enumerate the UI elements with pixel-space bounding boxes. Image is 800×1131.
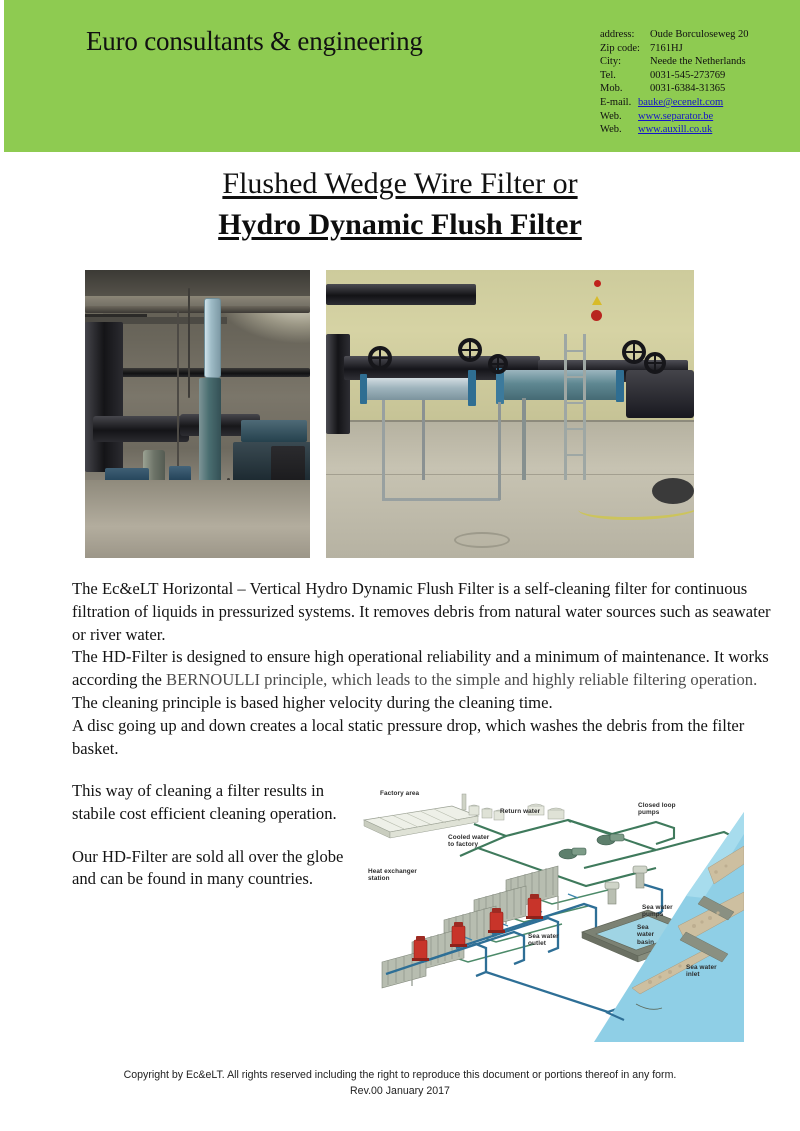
flange-2 — [468, 370, 476, 406]
indicator-lamp-icon — [594, 280, 601, 287]
ladder-rung — [564, 350, 586, 352]
contact-row-tel: Tel.0031-545-273769 — [600, 69, 749, 83]
diagram-label-heat-exchanger: Heat exchanger station — [368, 868, 417, 883]
heat-exchanger-banks — [382, 866, 558, 988]
concrete-floor — [85, 480, 310, 558]
tel-value: 0031-545-273769 — [650, 70, 725, 81]
ladder-rung — [564, 376, 586, 378]
page-title-line-2: Hydro Dynamic Flush Filter — [0, 204, 800, 246]
support-rod-secondary — [188, 288, 190, 398]
ceiling — [85, 270, 310, 296]
hand-wheel-valve-2 — [458, 338, 482, 362]
lower-text-column: This way of cleaning a filter results in… — [72, 780, 352, 891]
black-pipe-right-bend — [626, 370, 694, 418]
body-paragraph-4: A disc going up and down creates a local… — [72, 715, 772, 761]
hand-wheel-valve-1 — [368, 346, 392, 370]
address-label: address: — [600, 28, 650, 42]
closed-loop-piping — [460, 820, 734, 886]
diagram-label-sea-water-inlet: Sea water inlet — [686, 964, 717, 979]
closed-loop-pumps-icons — [559, 834, 624, 859]
web2-label: Web. — [600, 123, 638, 137]
emergency-stop-button — [591, 310, 602, 321]
factory-building — [364, 794, 564, 838]
mob-label: Mob. — [600, 82, 650, 96]
body-paragraph-2: The HD-Filter is designed to ensure high… — [72, 646, 772, 692]
hand-wheel-valve-4 — [622, 340, 646, 364]
contact-row-address: address:Oude Borculoseweg 20 — [600, 28, 749, 42]
warning-triangle-icon — [592, 296, 602, 305]
pipe-stand-left — [422, 400, 425, 480]
black-header-pipe — [93, 416, 189, 442]
diagram-label-closed-loop-pumps: Closed loop pumps — [638, 802, 676, 817]
hand-wheel-valve-5 — [644, 352, 666, 374]
diagram-label-factory-area: Factory area — [380, 790, 419, 797]
sea-water-cooling-schematic: Factory area Return water Closed loop pu… — [356, 776, 744, 1042]
ladder-rung — [564, 428, 586, 430]
contact-row-city: City:Neede the Netherlands — [600, 55, 749, 69]
contact-row-web1: Web.www.separator.be — [600, 110, 749, 124]
drain-line-horizontal — [382, 498, 500, 501]
overhead-conduit — [85, 306, 310, 313]
footer-copyright: Copyright by Ec&eLT. All rights reserved… — [0, 1068, 800, 1084]
diagram-label-cooled-water: Cooled water to factory — [448, 834, 489, 849]
pipe-stand-right — [522, 398, 526, 480]
address-value: Oude Borculoseweg 20 — [650, 29, 749, 40]
diagram-label-sea-water-outlet: Sea water outlet — [528, 933, 559, 948]
body-paragraph-2-bernoulli: BERNOULLI principle, which leads to the … — [166, 670, 757, 689]
wedge-wire-basket — [362, 378, 472, 400]
footer-revision: Rev.00 January 2017 — [0, 1084, 800, 1100]
body-paragraph-3: The cleaning principle is based higher v… — [72, 692, 772, 715]
email-link[interactable]: bauke@ecenelt.com — [638, 97, 723, 108]
mob-value: 0031-6384-31365 — [650, 83, 725, 94]
zip-value: 7161HJ — [650, 43, 683, 54]
photo-left-scene — [85, 270, 310, 558]
page-title-line-1: Flushed Wedge Wire Filter or — [0, 164, 800, 204]
contact-row-email: E-mail.bauke@ecenelt.com — [600, 96, 749, 110]
website-auxill-link[interactable]: www.auxill.co.uk — [638, 124, 712, 135]
black-riser-pipe — [85, 322, 123, 472]
tel-label: Tel. — [600, 69, 650, 83]
ladder-rail-right — [583, 334, 586, 480]
ladder-rung — [564, 454, 586, 456]
email-label: E-mail. — [600, 96, 638, 110]
filter-housing — [502, 370, 620, 400]
body-paragraph-1: The Ec&eLT Horizontal – Vertical Hydro D… — [72, 578, 772, 646]
contact-row-zip: Zip code:7161HJ — [600, 42, 749, 56]
access-ladder — [564, 334, 586, 480]
hand-wheel-valve-3 — [488, 354, 508, 374]
pump-casing — [241, 420, 307, 442]
diagram-label-sea-water-basin: Sea water basin — [637, 924, 654, 946]
body-text: The Ec&eLT Horizontal – Vertical Hydro D… — [72, 578, 772, 760]
sight-glass-tube — [204, 298, 221, 378]
schematic-svg — [356, 776, 744, 1042]
diagram-label-return-water: Return water — [500, 808, 540, 815]
lower-paragraph-2: Our HD-Filter are sold all over the glob… — [72, 846, 352, 892]
drain-line-vertical — [382, 400, 385, 500]
black-pipe-upper — [326, 284, 476, 305]
photo-row — [0, 270, 800, 560]
contact-block: address:Oude Borculoseweg 20 Zip code:71… — [600, 28, 749, 137]
city-value: Neede the Netherlands — [650, 56, 746, 67]
lower-paragraph-1: This way of cleaning a filter results in… — [72, 780, 352, 826]
floor-sump — [652, 478, 694, 504]
contact-row-mob: Mob.0031-6384-31365 — [600, 82, 749, 96]
ladder-rail-left — [564, 334, 567, 480]
web1-label: Web. — [600, 110, 638, 124]
website-separator-link[interactable]: www.separator.be — [638, 111, 713, 122]
photo-horizontal-filter-installation — [326, 270, 694, 558]
zip-label: Zip code: — [600, 42, 650, 56]
contact-row-web2: Web.www.auxill.co.uk — [600, 123, 749, 137]
black-pipe-left-riser — [326, 334, 350, 434]
flange-4 — [616, 370, 624, 402]
company-name: Euro consultants & engineering — [86, 26, 423, 57]
header-band: Euro consultants & engineering address:O… — [4, 0, 800, 152]
footer: Copyright by Ec&eLT. All rights reserved… — [0, 1068, 800, 1099]
ladder-rung — [564, 402, 586, 404]
diagram-label-sea-water-pumps: Sea water pumps — [642, 904, 673, 919]
photo-right-scene — [326, 270, 694, 558]
flange-1 — [360, 374, 367, 404]
sea-water-pump-icons — [605, 866, 647, 904]
photo-vertical-filter-installation — [85, 270, 310, 558]
floor-manhole-cover — [454, 532, 510, 548]
page-title: Flushed Wedge Wire Filter or Hydro Dynam… — [0, 164, 800, 246]
drain-line-return — [498, 402, 501, 500]
city-label: City: — [600, 55, 650, 69]
